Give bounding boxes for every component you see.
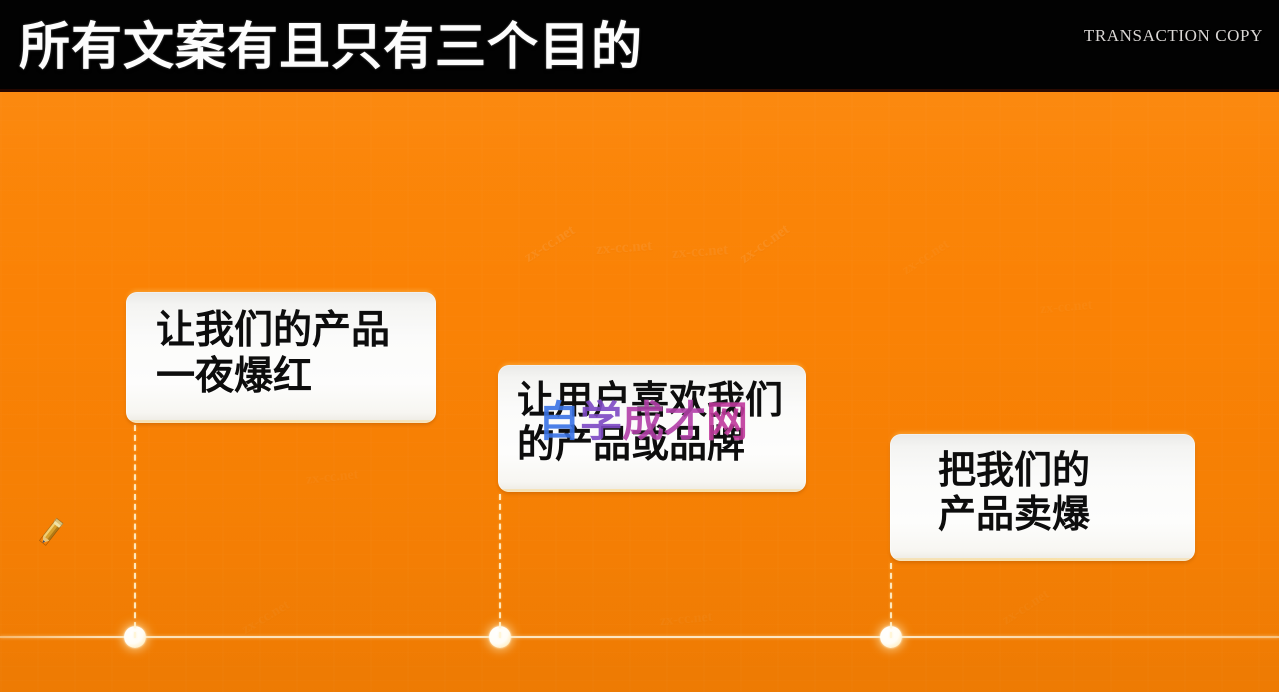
watermark-tile: zx-cc.net (737, 221, 793, 267)
milestone-card-3-label: 把我们的 产品卖爆 (938, 448, 1090, 537)
timeline-stem-3 (890, 563, 892, 638)
watermark-tile: zx-cc.net (900, 237, 953, 279)
milestone-card-3[interactable]: 把我们的 产品卖爆 (890, 434, 1195, 561)
slide-header-bar: 所有文案有且只有三个目的 TRANSACTION COPY (0, 0, 1279, 92)
milestone-card-2-label: 让用户喜欢我们 的产品或品牌 (517, 378, 783, 467)
watermark-tile: zx-cc.net (240, 598, 293, 639)
milestone-card-1[interactable]: 让我们的产品 一夜爆红 (126, 292, 436, 423)
timeline-stem-2 (499, 494, 501, 638)
timeline-axis (0, 636, 1279, 638)
page-title: 所有文案有且只有三个目的 (19, 5, 643, 79)
header-tag-label: TRANSACTION COPY (1084, 26, 1263, 46)
watermark-tile: zx-cc.net (522, 222, 579, 266)
watermark-tile: zx-cc.net (1039, 298, 1093, 319)
presentation-slide: 所有文案有且只有三个目的 TRANSACTION COPY zx-cc.netz… (0, 0, 1279, 692)
slide-body: zx-cc.netzx-cc.netzx-cc.netzx-cc.netzx-c… (0, 92, 1279, 692)
watermark-tile: zx-cc.net (305, 467, 359, 488)
watermark-tile: zx-cc.net (671, 242, 728, 263)
milestone-card-1-label: 让我们的产品 一夜爆红 (156, 308, 390, 399)
watermark-tile: zx-cc.net (659, 610, 713, 631)
watermark-tile: zx-cc.net (1000, 587, 1053, 629)
milestone-card-2[interactable]: 让用户喜欢我们 的产品或品牌 (498, 365, 806, 492)
pencil-icon (34, 514, 74, 554)
timeline-stem-1 (134, 425, 136, 638)
watermark-tile: zx-cc.net (595, 238, 652, 259)
